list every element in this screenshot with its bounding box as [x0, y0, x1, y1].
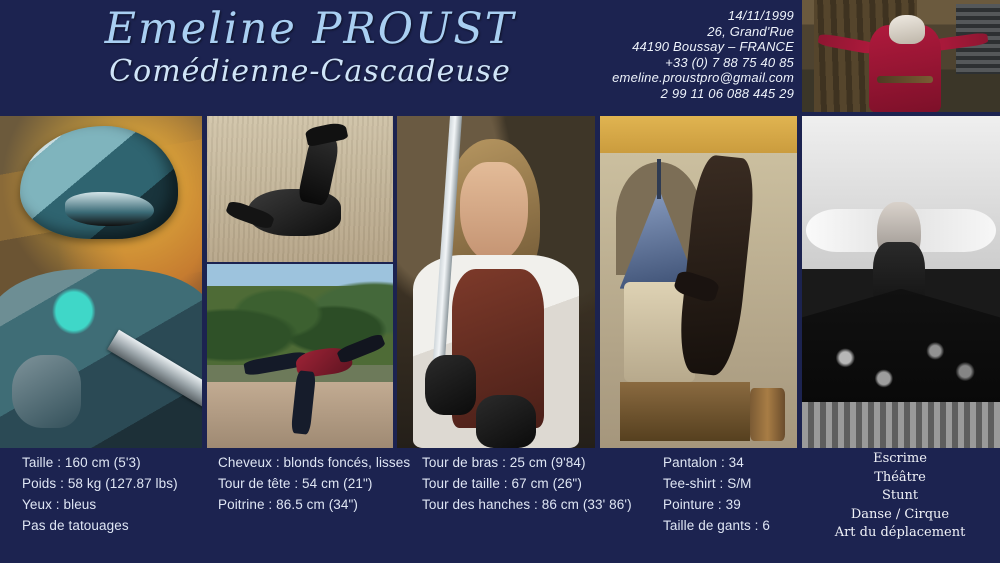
head-veil — [889, 15, 925, 44]
armour-glove — [12, 355, 81, 428]
contact-city: 44190 Boussay – FRANCE — [414, 39, 794, 55]
measurements-column-sizes: Pantalon : 34 Tee-shirt : S/M Pointure :… — [663, 452, 770, 536]
kick-forest-photo — [207, 264, 393, 448]
size-shoes: Pointure : 39 — [663, 494, 770, 515]
stunt-fall-sand-photo-content — [207, 116, 393, 262]
armour-knight-photo — [0, 116, 202, 448]
red-dress-photo-content — [802, 0, 1000, 112]
skill-danse-cirque: Danse / Cirque — [800, 506, 1000, 525]
skill-theatre: Théâtre — [800, 469, 1000, 488]
measurements-column-physical: Taille : 160 cm (5'3) Poids : 58 kg (127… — [22, 452, 178, 536]
measure-weight: Poids : 58 kg (127.87 lbs) — [22, 473, 178, 494]
sword-smile-photo-content — [397, 116, 595, 448]
skill-stunt: Stunt — [800, 487, 1000, 506]
contact-phone: +33 (0) 7 88 75 40 85 — [414, 55, 794, 71]
measure-hair: Cheveux : blonds foncés, lisses — [218, 452, 410, 473]
contact-street: 26, Grand'Rue — [414, 24, 794, 40]
kick-forest-photo-content — [207, 264, 393, 448]
sword-face — [460, 162, 527, 262]
skills-list: Escrime Théâtre Stunt Danse / Cirque Art… — [800, 450, 1000, 543]
bw-dance-photo — [802, 116, 1000, 448]
contact-block: 14/11/1999 26, Grand'Rue 44190 Boussay –… — [414, 8, 794, 102]
measure-head-circumference: Tour de tête : 54 cm (21") — [218, 473, 410, 494]
skill-escrime: Escrime — [800, 450, 1000, 469]
tower-crates — [620, 382, 750, 442]
size-gloves: Taille de gants : 6 — [663, 515, 770, 536]
red-dress-belt — [877, 76, 932, 83]
measure-chest: Poitrine : 86.5 cm (34") — [218, 494, 410, 515]
sword-glove-lower — [476, 395, 535, 448]
tower-fall-photo — [600, 116, 797, 448]
sword-glove-upper — [425, 355, 476, 415]
armour-knight-photo-content — [0, 116, 202, 448]
measure-waist: Tour de taille : 67 cm (26") — [422, 473, 632, 494]
size-tshirt: Tee-shirt : S/M — [663, 473, 770, 494]
skill-art-du-deplacement: Art du déplacement — [800, 524, 1000, 543]
measurements-column-body: Tour de bras : 25 cm (9'84) Tour de tail… — [422, 452, 632, 515]
bw-dance-photo-content — [802, 116, 1000, 448]
measurements-column-head: Cheveux : blonds foncés, lisses Tour de … — [218, 452, 410, 515]
stunt-fall-sand-photo — [207, 116, 393, 262]
tower-sky — [600, 116, 797, 156]
size-trousers: Pantalon : 34 — [663, 452, 770, 473]
tower-barrel — [750, 388, 785, 441]
tower-fall-photo-content — [600, 116, 797, 448]
armour-visor — [65, 192, 154, 225]
measure-height: Taille : 160 cm (5'3) — [22, 452, 178, 473]
sword-smile-photo — [397, 116, 595, 448]
measure-hips: Tour des hanches : 86 cm (33' 86') — [422, 494, 632, 515]
contact-birthdate: 14/11/1999 — [414, 8, 794, 24]
measure-arm: Tour de bras : 25 cm (9'84) — [422, 452, 632, 473]
tower-spire — [657, 159, 661, 199]
dance-skirt-hem — [802, 402, 1000, 448]
contact-registration-number: 2 99 11 06 088 445 29 — [414, 86, 794, 102]
contact-email: emeline.proustpro@gmail.com — [414, 70, 794, 86]
composite-card: Emeline PROUST Comédienne-Cascadeuse 14/… — [0, 0, 1000, 563]
measure-tattoos: Pas de tatouages — [22, 515, 178, 536]
red-dress-photo — [802, 0, 1000, 112]
measure-eyes: Yeux : bleus — [22, 494, 178, 515]
